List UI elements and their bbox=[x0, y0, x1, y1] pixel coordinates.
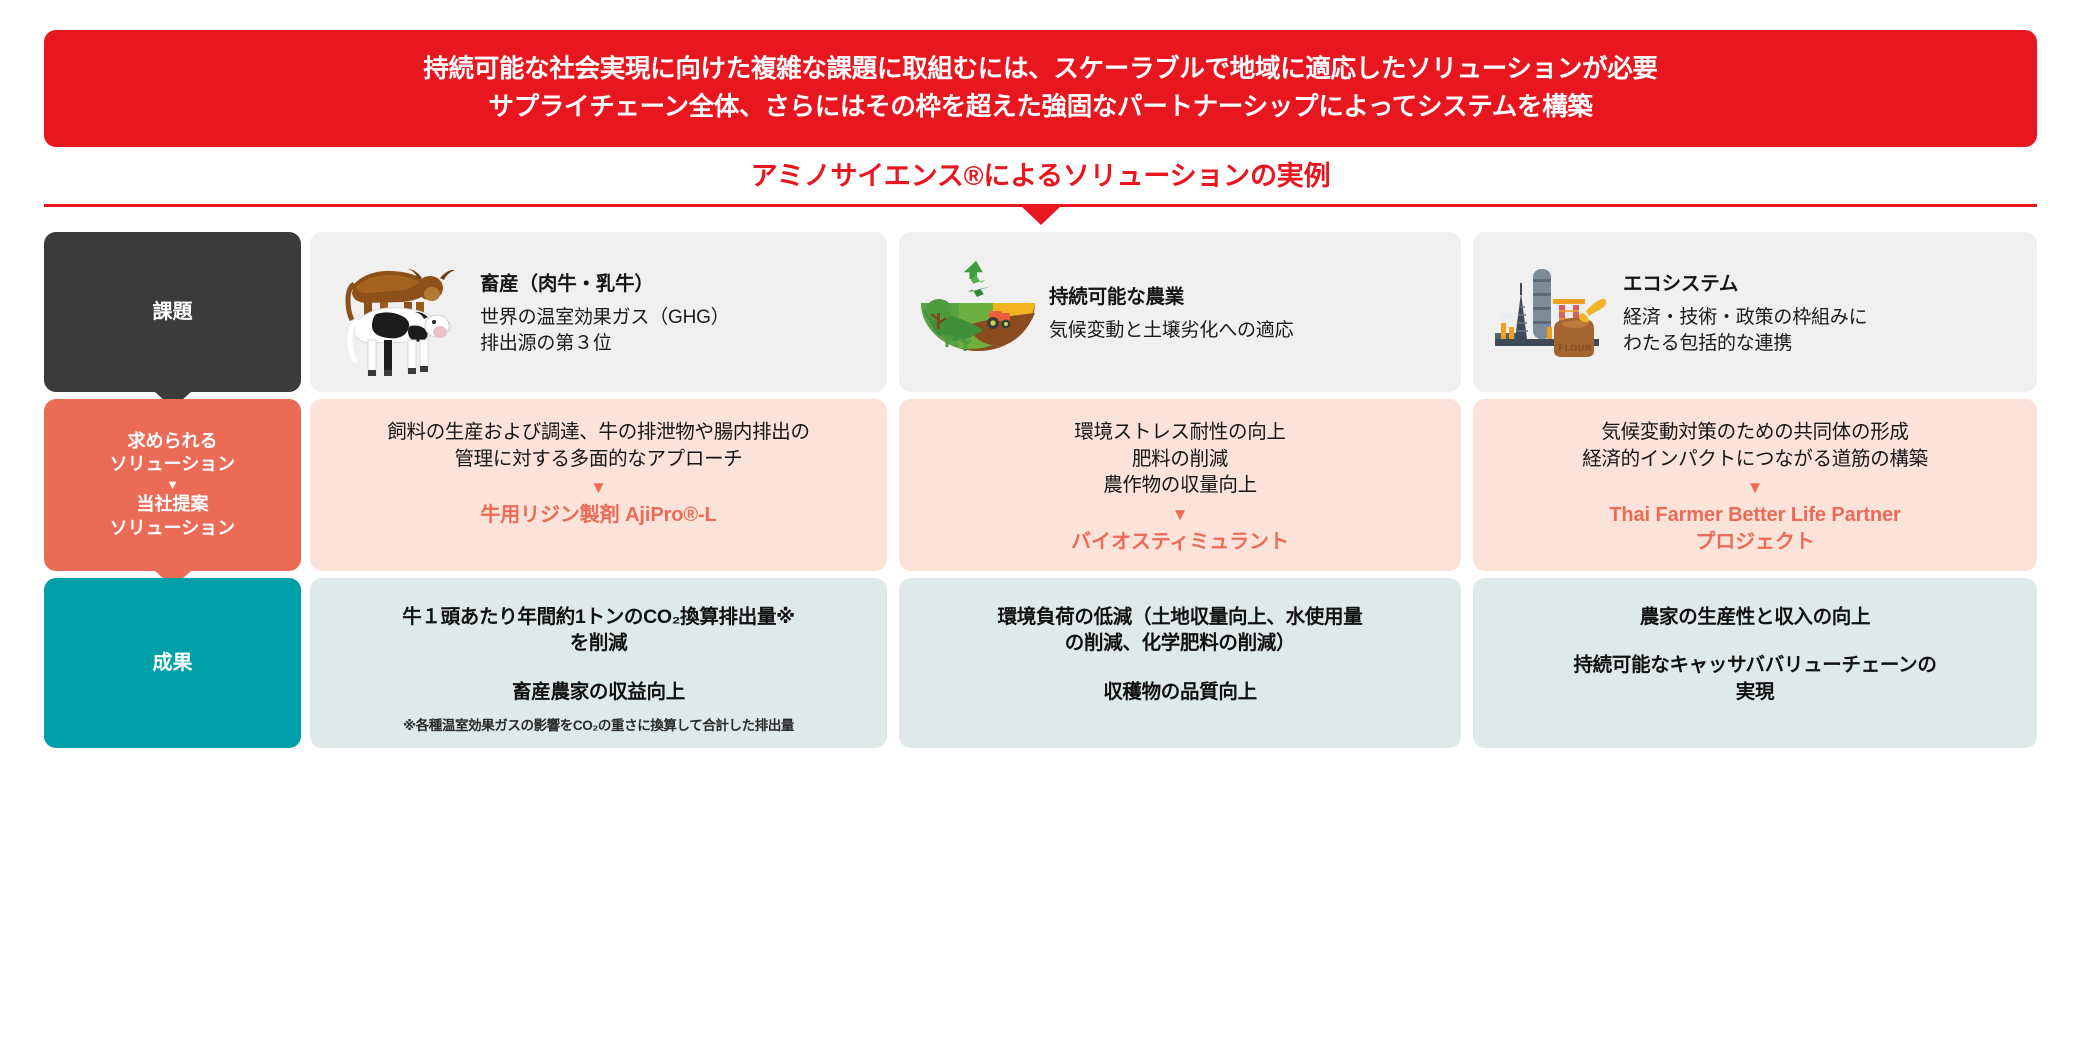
infographic-page: 持続可能な社会実現に向けた複雑な課題に取組むには、スケーラブルで地域に適応したソ… bbox=[0, 0, 2081, 1052]
challenge-desc-agriculture-l1: 気候変動と土壌劣化への適応 bbox=[1049, 318, 1447, 344]
row-label-solution-offered-l1: 当社提案 bbox=[137, 493, 209, 517]
challenge-card-agriculture: 持続可能な農業 気候変動と土壌劣化への適応 bbox=[899, 232, 1461, 392]
solution-arrow-icon-livestock: ▼ bbox=[332, 477, 865, 499]
challenge-desc-livestock-l2: 排出源の第３位 bbox=[480, 331, 873, 357]
solution-card-livestock: 飼料の生産および調達、牛の排泄物や腸内排出の 管理に対する多面的なアプローチ ▼… bbox=[310, 399, 887, 571]
row-label-solution-needed-l1: 求められる bbox=[128, 430, 218, 454]
challenge-desc-livestock-l1: 世界の温室効果ガス（GHG） bbox=[480, 305, 873, 331]
result-footnote-livestock: ※各種温室効果ガスの影響をCO₂の重さに換算して合計した排出量 bbox=[310, 714, 887, 734]
result-main-ecosystem-l1: 農家の生産性と収入の向上 bbox=[1499, 604, 2011, 630]
result-second-agriculture-l1: 収穫物の品質向上 bbox=[925, 679, 1435, 705]
row-label-solution-needed-l2: ソリューション bbox=[110, 453, 236, 477]
challenge-desc-ecosystem-l2: わたる包括的な連携 bbox=[1623, 331, 2023, 357]
result-main-agriculture-l1: 環境負荷の低減（土地収量向上、水使用量 bbox=[925, 604, 1435, 630]
factory-flour-icon: FLOUR bbox=[1487, 255, 1617, 370]
row-label-challenge-text: 課題 bbox=[153, 299, 193, 325]
product-livestock-l1: 牛用リジン製剤 AjiPro®-L bbox=[332, 502, 865, 528]
need-ecosystem-l2: 経済的インパクトにつながる道筋の構築 bbox=[1495, 446, 2015, 473]
challenge-title-agriculture: 持続可能な農業 bbox=[1049, 280, 1447, 309]
need-agriculture-l2: 肥料の削減 bbox=[921, 446, 1439, 473]
need-agriculture-l1: 環境ストレス耐性の向上 bbox=[921, 419, 1439, 446]
down-arrow-icon bbox=[1021, 206, 1061, 225]
row-label-challenge: 課題 bbox=[44, 232, 301, 392]
row-label-column: 課題 求められる ソリューション ▼ 当社提案 ソリューション 成果 bbox=[44, 232, 301, 748]
result-second-ecosystem-l1: 持続可能なキャッサババリューチェーンの bbox=[1499, 652, 2011, 678]
challenge-title-ecosystem: エコシステム bbox=[1623, 267, 2023, 296]
cards-area: 畜産（肉牛・乳牛） 世界の温室効果ガス（GHG） 排出源の第３位 bbox=[310, 232, 2037, 748]
result-main-livestock-l1: 牛１頭あたり年間約1トンのCO₂換算排出量※ bbox=[336, 604, 861, 630]
challenge-card-livestock: 畜産（肉牛・乳牛） 世界の温室効果ガス（GHG） 排出源の第３位 bbox=[310, 232, 887, 392]
banner-line-1: 持続可能な社会実現に向けた複雑な課題に取組むには、スケーラブルで地域に適応したソ… bbox=[423, 54, 1657, 86]
result-second-ecosystem-l2: 実現 bbox=[1499, 679, 2011, 705]
solution-arrow-icon-ecosystem: ▼ bbox=[1495, 477, 2015, 499]
row-label-result-text: 成果 bbox=[153, 650, 193, 676]
result-second-livestock-l1: 畜産農家の収益向上 bbox=[336, 679, 861, 705]
cattle-icon bbox=[324, 242, 474, 382]
challenge-desc-ecosystem-l1: 経済・技術・政策の枠組みに bbox=[1623, 305, 2023, 331]
banner-line-2: サプライチェーン全体、さらにはその枠を超えた強固なパートナーシップによってシステ… bbox=[488, 92, 1592, 124]
product-ecosystem-l2: プロジェクト bbox=[1495, 529, 2015, 555]
label-down-arrow-icon: ▼ bbox=[166, 478, 179, 492]
solution-arrow-icon-agriculture: ▼ bbox=[921, 504, 1439, 526]
solution-card-agriculture: 環境ストレス耐性の向上 肥料の削減 農作物の収量向上 ▼ バイオスティミュラント bbox=[899, 399, 1461, 571]
svg-text:FLOUR: FLOUR bbox=[1558, 344, 1592, 354]
header-banner: 持続可能な社会実現に向けた複雑な課題に取組むには、スケーラブルで地域に適応したソ… bbox=[44, 30, 2037, 147]
challenge-card-ecosystem: FLOUR エコシステム 経済・技術・政策の枠組みに わたる包括的な連携 bbox=[1473, 232, 2037, 392]
sustainable-farm-icon bbox=[913, 255, 1043, 370]
result-card-ecosystem: 農家の生産性と収入の向上 持続可能なキャッサババリューチェーンの 実現 bbox=[1473, 578, 2037, 748]
solutions-grid: 課題 求められる ソリューション ▼ 当社提案 ソリューション 成果 bbox=[44, 232, 2037, 748]
need-ecosystem-l1: 気候変動対策のための共同体の形成 bbox=[1495, 419, 2015, 446]
need-livestock-l1: 飼料の生産および調達、牛の排泄物や腸内排出の bbox=[332, 419, 865, 446]
result-main-livestock-l2: を削減 bbox=[336, 630, 861, 656]
product-ecosystem-l1: Thai Farmer Better Life Partner bbox=[1495, 502, 2015, 528]
result-card-agriculture: 環境負荷の低減（土地収量向上、水使用量 の削減、化学肥料の削減） 収穫物の品質向… bbox=[899, 578, 1461, 748]
row-label-solution-offered-l2: ソリューション bbox=[110, 517, 236, 541]
row-label-solution: 求められる ソリューション ▼ 当社提案 ソリューション bbox=[44, 399, 301, 571]
product-agriculture-l1: バイオスティミュラント bbox=[921, 529, 1439, 555]
row-label-result: 成果 bbox=[44, 578, 301, 748]
section-subtitle: アミノサイエンス®によるソリューションの実例 bbox=[0, 154, 2081, 193]
challenge-title-livestock: 畜産（肉牛・乳牛） bbox=[480, 267, 873, 296]
result-main-agriculture-l2: の削減、化学肥料の削減） bbox=[925, 630, 1435, 656]
result-card-livestock: 牛１頭あたり年間約1トンのCO₂換算排出量※ を削減 畜産農家の収益向上 ※各種… bbox=[310, 578, 887, 748]
need-agriculture-l3: 農作物の収量向上 bbox=[921, 472, 1439, 499]
need-livestock-l2: 管理に対する多面的なアプローチ bbox=[332, 446, 865, 473]
solution-card-ecosystem: 気候変動対策のための共同体の形成 経済的インパクトにつながる道筋の構築 ▼ Th… bbox=[1473, 399, 2037, 571]
